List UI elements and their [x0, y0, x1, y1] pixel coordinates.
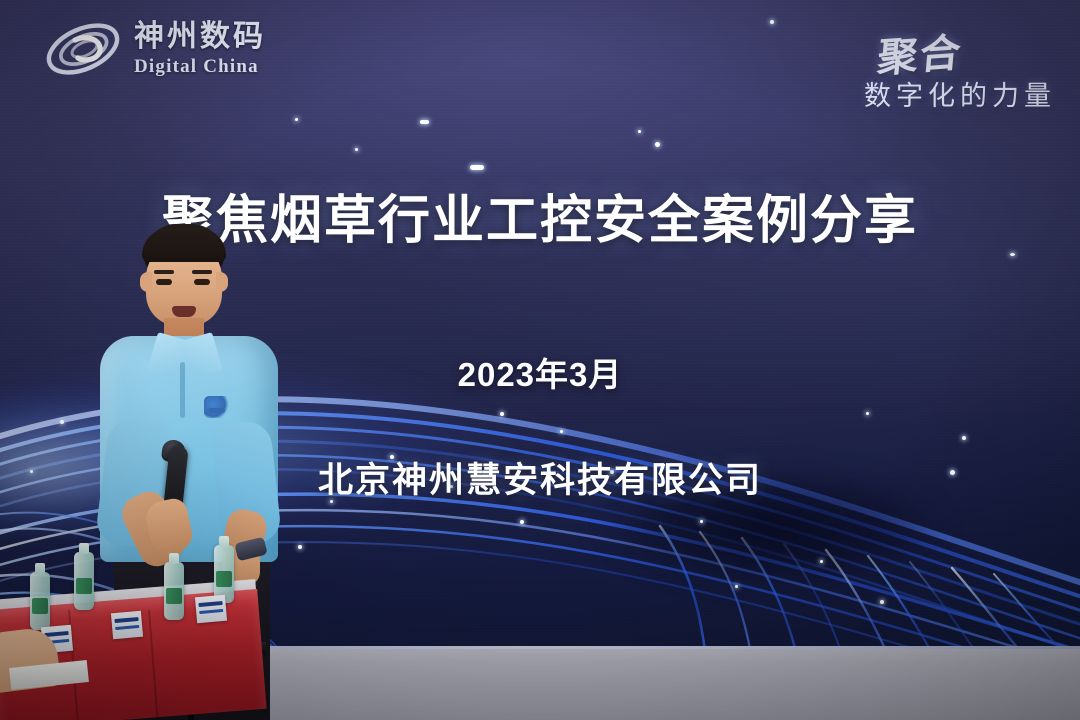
presenter — [96, 224, 282, 624]
presenter-eye-left — [156, 279, 172, 285]
digital-china-logo: 神州数码 Digital China — [42, 18, 266, 80]
presenter-brow-left — [154, 270, 174, 274]
event-slogan: 聚合 数字化的力量 — [864, 20, 1056, 113]
slogan-brush-text: 聚合 — [875, 20, 965, 84]
presenter-hair-front — [142, 228, 226, 262]
list-item — [111, 611, 143, 640]
presenter-brow-right — [192, 270, 212, 274]
list-item — [74, 552, 94, 610]
logo-chinese-name: 神州数码 — [134, 22, 266, 52]
conference-photo: 神州数码 Digital China 聚合 数字化的力量 聚焦烟草行业工控安全案… — [0, 0, 1080, 720]
logo-english-name: Digital China — [134, 57, 266, 76]
presenter-eye-right — [194, 279, 210, 285]
digital-china-swirl-icon — [42, 18, 124, 80]
list-item — [195, 595, 227, 624]
list-item — [164, 562, 184, 620]
presenter-mouth — [172, 306, 196, 317]
shirt-logo-icon — [204, 396, 230, 418]
presenter-ear-right — [216, 272, 228, 292]
presenter-ear-left — [140, 272, 152, 292]
list-item — [30, 572, 50, 630]
presenter-shirt-placket — [180, 362, 185, 418]
